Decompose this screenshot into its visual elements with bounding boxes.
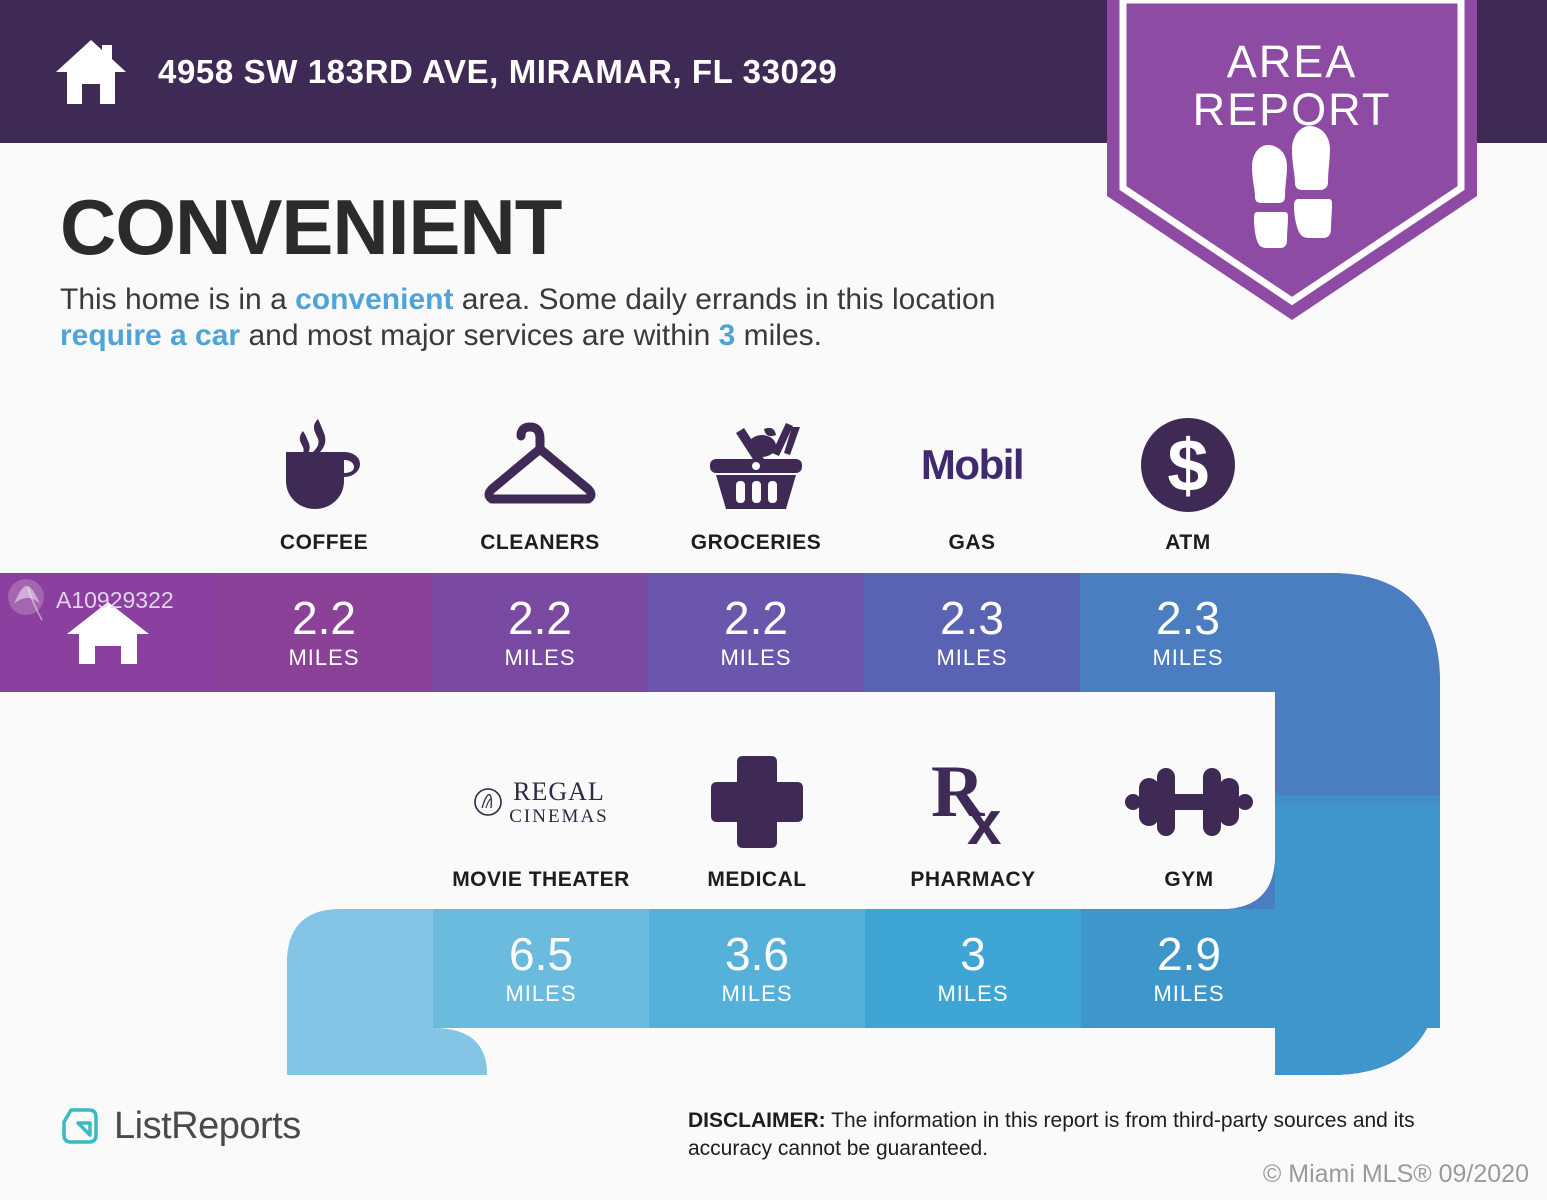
distance-value: 2.2 [292, 595, 356, 641]
distance-unit: MILES [937, 981, 1008, 1007]
movie-brand-line-1: REGAL [509, 779, 609, 805]
category-label: GYM [1164, 868, 1213, 892]
category-gas: Mobil GAS [864, 415, 1080, 555]
distance-cell: 2.2 MILES [648, 573, 864, 692]
disclaimer-label: DISCLAIMER: [688, 1109, 826, 1132]
svg-text:$: $ [1167, 424, 1208, 507]
category-groceries: GROCERIES [648, 415, 864, 555]
listreports-label: ListReports [114, 1105, 301, 1148]
summary-text: This home is in a convenient area. Some … [60, 282, 1070, 354]
distance-unit: MILES [1152, 645, 1223, 671]
category-label: COFFEE [280, 531, 368, 555]
category-label: MEDICAL [707, 868, 806, 892]
mls-watermark: A10929322 [6, 578, 174, 622]
category-label: MOVIE THEATER [452, 868, 630, 892]
medical-cross-icon [709, 752, 805, 852]
distance-unit: MILES [505, 981, 576, 1007]
distance-value: 2.2 [508, 595, 572, 641]
category-cleaners: CLEANERS [432, 415, 648, 555]
svg-text:x: x [967, 789, 1002, 852]
summary-highlight-1: convenient [295, 283, 453, 316]
distance-cell: 2.3 MILES [864, 573, 1080, 692]
distance-unit: MILES [288, 645, 359, 671]
clothes-hanger-icon [480, 415, 600, 515]
badge-title: AREA REPORT [1107, 38, 1477, 134]
listreports-logo: ListReports [58, 1104, 301, 1148]
distance-value: 2.3 [1156, 595, 1220, 641]
summary-part-1: This home is in a [60, 283, 295, 316]
category-gym: GYM [1081, 752, 1297, 892]
mls-logo-icon [6, 578, 50, 622]
badge-line-1: AREA [1107, 38, 1477, 86]
distance-unit: MILES [720, 645, 791, 671]
distance-unit: MILES [936, 645, 1007, 671]
category-label: CLEANERS [480, 531, 600, 555]
summary-part-3: and most major services are within [240, 319, 719, 352]
watermark-id: A10929322 [56, 587, 174, 614]
listreports-house-icon [58, 1104, 102, 1148]
summary-highlight-2: require a car [60, 319, 240, 352]
mls-copyright: © Miami MLS® 09/2020 [1263, 1160, 1529, 1189]
badge-line-2: REPORT [1107, 86, 1477, 134]
category-label: PHARMACY [910, 868, 1035, 892]
gas-brand-label: Mobil [921, 441, 1023, 489]
distance-value: 3.6 [725, 931, 789, 977]
dumbbell-icon [1125, 752, 1253, 852]
distance-value: 2.9 [1157, 931, 1221, 977]
distance-cell: 6.5 MILES [433, 909, 649, 1028]
grocery-basket-icon [700, 415, 812, 515]
distance-cell: 3 MILES [865, 909, 1081, 1028]
distance-cell: 2.2 MILES [432, 573, 648, 692]
area-report-badge: AREA REPORT [1107, 0, 1477, 320]
disclaimer: DISCLAIMER: The information in this repo… [688, 1107, 1478, 1163]
category-label: ATM [1165, 531, 1210, 555]
regal-cinemas-logo-icon: REGAL CINEMAS [473, 752, 609, 852]
dollar-circle-icon: $ [1138, 415, 1238, 515]
mobil-logo-icon: Mobil [921, 415, 1023, 515]
row2-values: 6.5 MILES 3.6 MILES 3 MILES 2.9 MILES [433, 909, 1297, 1028]
category-atm: $ ATM [1080, 415, 1296, 555]
row1-icons: COFFEE CLEANERS [216, 415, 1296, 555]
distance-value: 2.2 [724, 595, 788, 641]
summary-part-2: area. Some daily errands in this locatio… [453, 283, 995, 316]
row2-icons: REGAL CINEMAS MOVIE THEATER MEDICAL R x … [433, 752, 1297, 892]
distance-cell: 2.2 MILES [216, 573, 432, 692]
category-pharmacy: R x PHARMACY [865, 752, 1081, 892]
category-label: GAS [948, 531, 995, 555]
property-address: 4958 SW 183RD AVE, MIRAMAR, FL 33029 [158, 53, 837, 91]
category-movie-theater: REGAL CINEMAS MOVIE THEATER [433, 752, 649, 892]
category-label: GROCERIES [691, 531, 822, 555]
distance-value: 2.3 [940, 595, 1004, 641]
summary-highlight-3: 3 [719, 319, 736, 352]
category-coffee: COFFEE [216, 415, 432, 555]
summary-part-4: miles. [735, 319, 822, 352]
distance-unit: MILES [504, 645, 575, 671]
page-title: CONVENIENT [60, 188, 561, 266]
distance-unit: MILES [1153, 981, 1224, 1007]
distance-unit: MILES [721, 981, 792, 1007]
movie-brand-line-2: CINEMAS [509, 807, 609, 826]
distance-value: 3 [960, 931, 986, 977]
row1-values: 2.2 MILES 2.2 MILES 2.2 MILES 2.3 MILES … [216, 573, 1296, 692]
distance-cell: 2.3 MILES [1080, 573, 1296, 692]
distance-cell: 3.6 MILES [649, 909, 865, 1028]
distance-value: 6.5 [509, 931, 573, 977]
rx-prescription-icon: R x [923, 752, 1023, 852]
distance-cell: 2.9 MILES [1081, 909, 1297, 1028]
house-icon [52, 36, 130, 108]
coffee-cup-icon [274, 415, 374, 515]
category-medical: MEDICAL [649, 752, 865, 892]
